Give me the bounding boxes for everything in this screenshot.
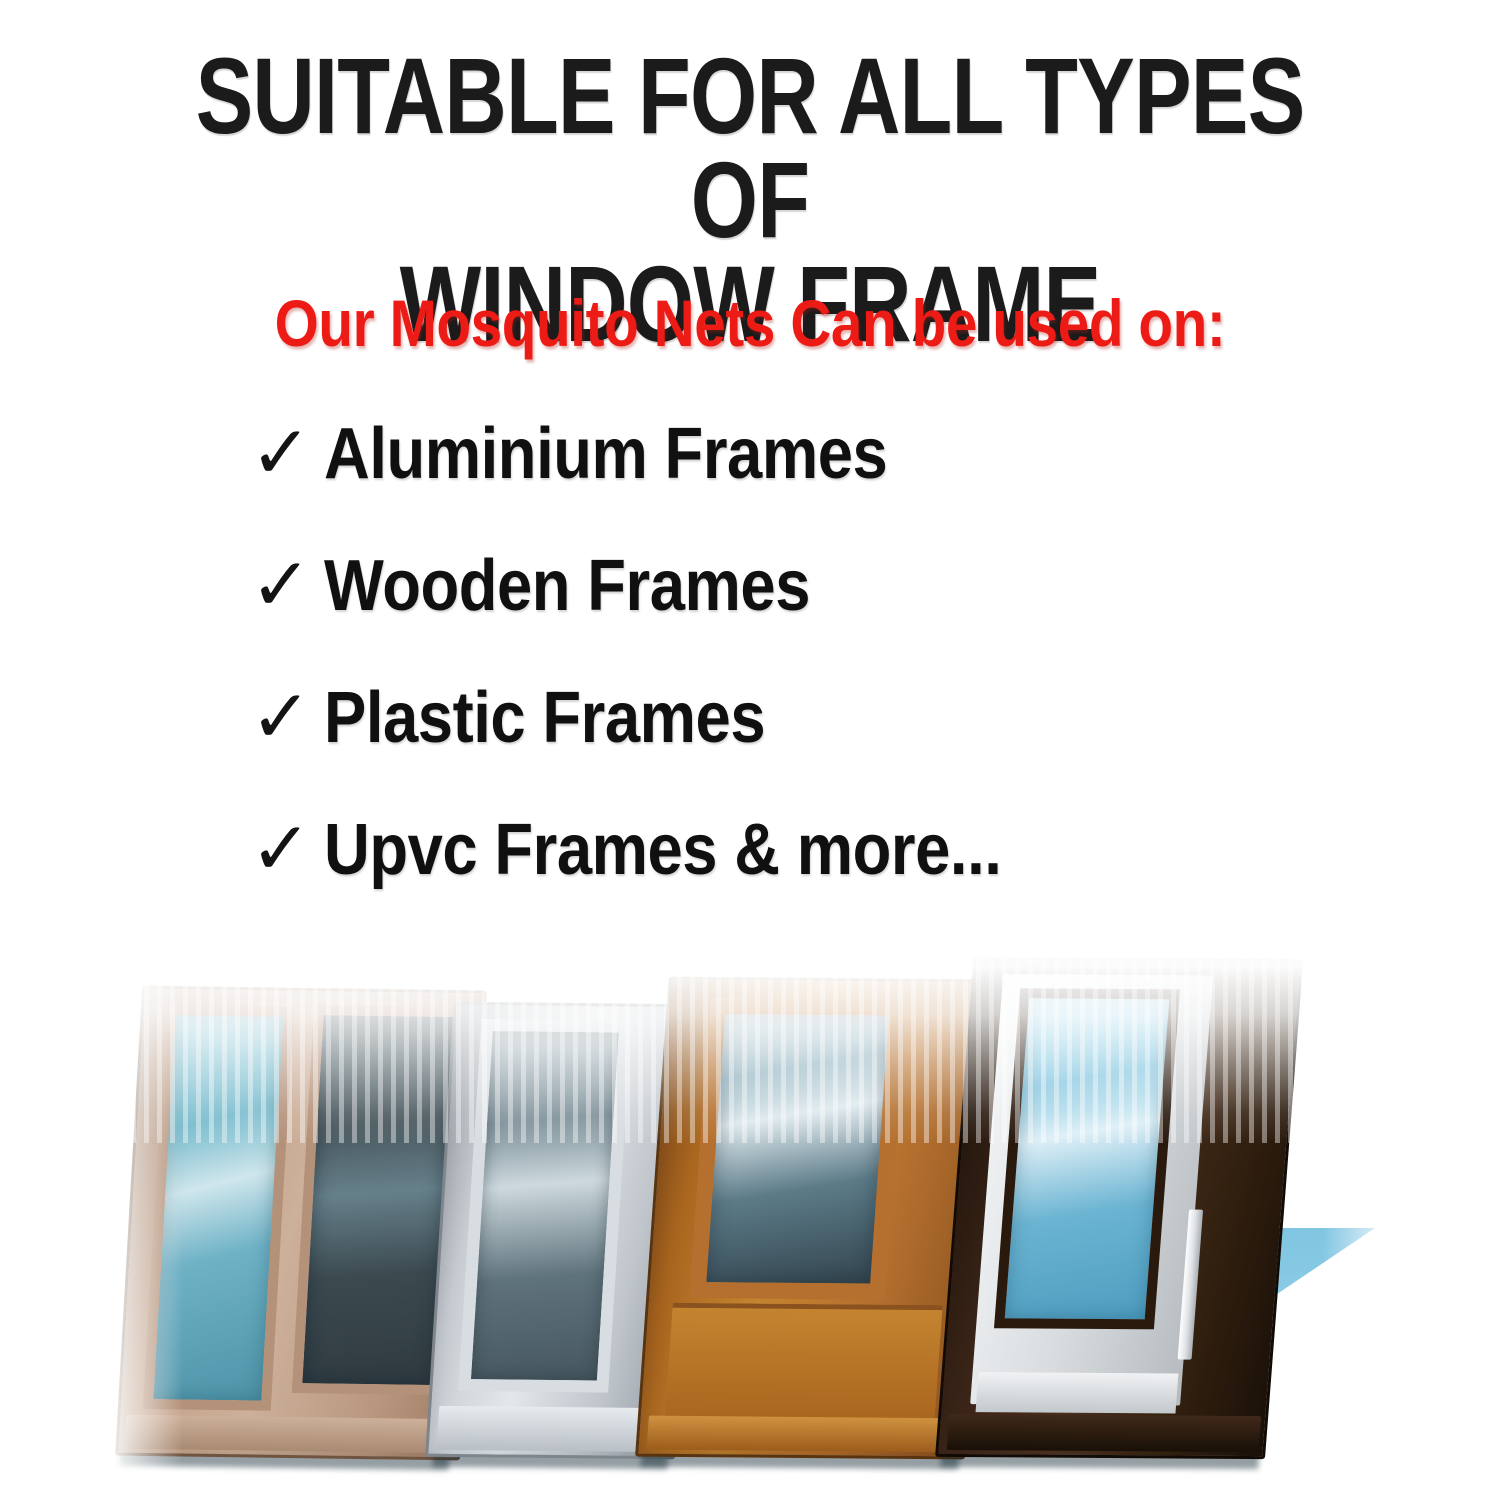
window-frames-photo	[105, 928, 1400, 1480]
frame-dark-brown	[935, 957, 1303, 1459]
list-item: ✓ Upvc Frames & more...	[250, 808, 1430, 890]
promo-panel: SUITABLE FOR ALL TYPES OF WINDOW FRAME O…	[0, 0, 1500, 1500]
frame-body	[935, 957, 1303, 1459]
list-item: ✓ Wooden Frames	[250, 544, 1430, 626]
glass-pane	[143, 1005, 294, 1411]
glass-pane	[458, 1019, 631, 1393]
check-icon: ✓	[250, 412, 324, 494]
list-item: ✓ Plastic Frames	[250, 676, 1430, 758]
list-item-label: Aluminium Frames	[324, 413, 887, 495]
list-item-label: Plastic Frames	[324, 677, 765, 759]
glass-pane	[994, 988, 1180, 1329]
frame-type-list: ✓ Aluminium Frames ✓ Wooden Frames ✓ Pla…	[250, 412, 1430, 940]
glass-pane	[689, 998, 906, 1300]
list-item: ✓ Aluminium Frames	[250, 412, 1430, 494]
check-icon: ✓	[250, 676, 324, 758]
check-icon: ✓	[250, 544, 324, 626]
subtitle: Our Mosquito Nets Can be used on:	[105, 288, 1395, 358]
check-icon: ✓	[250, 808, 324, 890]
photo-scene	[105, 928, 1400, 1480]
list-item-label: Wooden Frames	[324, 545, 810, 627]
list-item-label: Upvc Frames & more...	[324, 809, 1001, 891]
